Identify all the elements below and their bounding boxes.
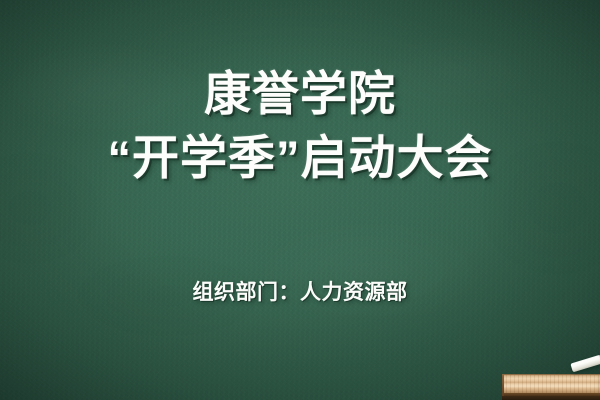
slide-content: 康誉学院 “开学季”启动大会 组织部门：人力资源部 <box>0 0 600 400</box>
title-line-1: 康誉学院 <box>0 62 600 126</box>
title-line-2: “开学季”启动大会 <box>0 126 600 190</box>
chalk-ledge <box>502 374 600 400</box>
chalk-ledge-wood-grain <box>502 375 600 393</box>
chalkboard-slide: 康誉学院 “开学季”启动大会 组织部门：人力资源部 <box>0 0 600 400</box>
slide-subtitle: 组织部门：人力资源部 <box>0 279 600 307</box>
subtitle-organizing-department: 组织部门：人力资源部 <box>0 279 600 307</box>
chalk-ledge-left-cap <box>502 374 504 396</box>
slide-title: 康誉学院 “开学季”启动大会 <box>0 62 600 190</box>
chalk-ledge-wood-surface <box>502 374 600 393</box>
chalk-ledge-front-face <box>502 396 600 400</box>
